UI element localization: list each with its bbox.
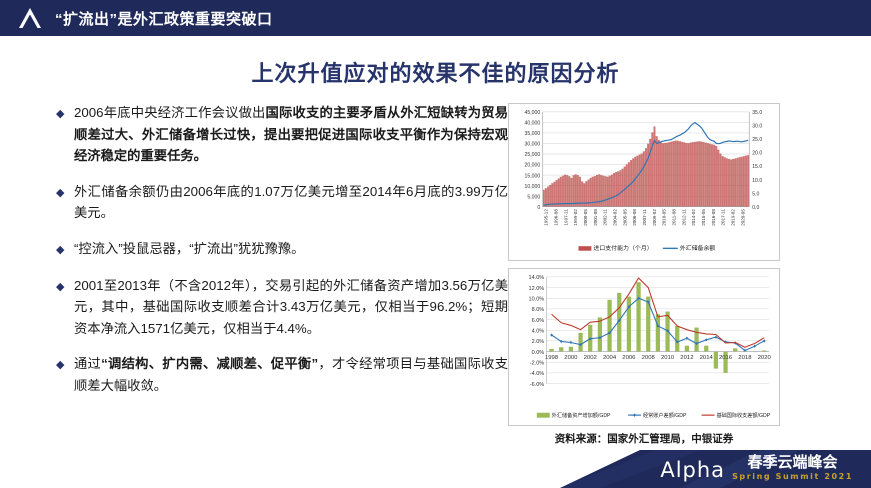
- svg-text:10.0: 10.0: [752, 178, 762, 184]
- bullet-list: ◆2006年底中央经济工作会议做出国际收支的主要矛盾从外汇短缺转为贸易顺差过大、…: [56, 102, 508, 410]
- svg-text:外汇储备资产增加额/GDP: 外汇储备资产增加额/GDP: [552, 411, 611, 419]
- svg-text:2015-05: 2015-05: [701, 209, 706, 226]
- svg-text:1996-08: 1996-08: [553, 209, 558, 226]
- svg-text:30,000: 30,000: [525, 142, 541, 148]
- brand-english-text: Spring Summit 2021: [732, 472, 853, 481]
- svg-text:1998: 1998: [545, 355, 559, 361]
- svg-text:2000-05: 2000-05: [583, 209, 588, 226]
- svg-text:10.0%: 10.0%: [529, 297, 545, 303]
- bullet-marker-icon: ◆: [56, 181, 74, 224]
- svg-text:2008: 2008: [642, 355, 656, 361]
- svg-text:2012: 2012: [680, 355, 693, 361]
- svg-text:2011-08: 2011-08: [671, 209, 676, 226]
- svg-text:35.0: 35.0: [752, 110, 762, 116]
- page-title: 上次升值应对的效果不佳的原因分析: [0, 56, 871, 88]
- svg-text:2014-02: 2014-02: [691, 209, 696, 226]
- svg-text:外汇储备余额: 外汇储备余额: [680, 244, 716, 252]
- svg-text:2014: 2014: [700, 355, 714, 361]
- svg-text:1997-11: 1997-11: [563, 209, 568, 226]
- svg-text:0: 0: [537, 205, 540, 211]
- bullet-marker-icon: ◆: [56, 102, 74, 167]
- svg-text:2019-02: 2019-02: [730, 209, 735, 226]
- svg-text:-6.0%: -6.0%: [530, 382, 545, 388]
- svg-text:2012-11: 2012-11: [681, 209, 686, 226]
- svg-text:1999-02: 1999-02: [573, 209, 578, 226]
- svg-text:基础国际收支差额/GDP: 基础国际收支差额/GDP: [716, 411, 770, 419]
- brand-alpha-text: Alpha: [660, 458, 725, 483]
- svg-text:10,000: 10,000: [525, 184, 541, 190]
- svg-text:2002-11: 2002-11: [603, 209, 608, 226]
- svg-text:4.0%: 4.0%: [532, 328, 545, 334]
- slide-header-bar: “扩流出”是外汇政策重要突破口: [0, 0, 871, 36]
- svg-text:2006-08: 2006-08: [632, 209, 637, 226]
- svg-text:2010: 2010: [661, 355, 675, 361]
- bullet-item: ◆2006年底中央经济工作会议做出国际收支的主要矛盾从外汇短缺转为贸易顺差过大、…: [56, 102, 508, 167]
- svg-text:2017-11: 2017-11: [721, 209, 726, 226]
- bullet-item: ◆通过“调结构、扩内需、减顺差、促平衡”，才令经常项目与基础国际收支顺差大幅收敛…: [56, 353, 508, 396]
- svg-text:2.0%: 2.0%: [532, 339, 545, 345]
- svg-text:20,000: 20,000: [525, 163, 541, 169]
- svg-text:2010-05: 2010-05: [662, 209, 667, 226]
- chart-fx-reserves-import-cover: 05,00010,00015,00020,00025,00030,00035,0…: [508, 103, 780, 261]
- svg-text:25,000: 25,000: [525, 152, 541, 158]
- svg-text:2004: 2004: [603, 355, 617, 361]
- svg-text:2016: 2016: [719, 355, 733, 361]
- source-note: 资料来源：国家外汇管理局，中银证券: [508, 431, 780, 446]
- bullet-marker-icon: ◆: [56, 275, 74, 340]
- svg-text:2000: 2000: [564, 355, 578, 361]
- bullet-item: ◆2001至2013年（不含2012年），交易引起的外汇储备资产增加3.56万亿…: [56, 275, 508, 340]
- svg-text:15.0: 15.0: [752, 164, 762, 170]
- slide-root: “扩流出”是外汇政策重要突破口 上次升值应对的效果不佳的原因分析 ◆2006年底…: [0, 0, 871, 488]
- bullet-marker-icon: ◆: [56, 238, 74, 261]
- svg-text:2020: 2020: [758, 355, 772, 361]
- svg-text:2005-05: 2005-05: [622, 209, 627, 226]
- svg-text:经常账户差额/GDP: 经常账户差额/GDP: [643, 411, 687, 419]
- svg-text:0.0%: 0.0%: [532, 350, 545, 356]
- slide-footer: Alpha 春季云端峰会 Spring Summit 2021: [0, 450, 871, 488]
- bullet-text: 通过“调结构、扩内需、减顺差、促平衡”，才令经常项目与基础国际收支顺差大幅收敛。: [74, 353, 508, 396]
- bullet-text: 2006年底中央经济工作会议做出国际收支的主要矛盾从外汇短缺转为贸易顺差过大、外…: [74, 102, 508, 167]
- bullet-item: ◆外汇储备余额仍由2006年底的1.07万亿美元增至2014年6月底的3.99万…: [56, 181, 508, 224]
- brand-chinese-text: 春季云端峰会: [748, 454, 838, 472]
- svg-text:12.0%: 12.0%: [529, 286, 545, 292]
- svg-text:20.0: 20.0: [752, 151, 762, 157]
- svg-text:1995-12: 1995-12: [544, 209, 549, 226]
- svg-text:14.0%: 14.0%: [529, 275, 545, 281]
- bullet-text: “控流入”投鼠忌器，“扩流出”犹犹豫豫。: [74, 238, 508, 261]
- svg-text:6.0%: 6.0%: [532, 318, 545, 324]
- footer-brand: Alpha 春季云端峰会 Spring Summit 2021: [660, 454, 853, 483]
- svg-text:2007-11: 2007-11: [642, 209, 647, 226]
- bullet-text: 外汇储备余额仍由2006年底的1.07万亿美元增至2014年6月底的3.99万亿…: [74, 181, 508, 224]
- svg-text:2009-02: 2009-02: [652, 209, 657, 226]
- alpha-triangle-icon: [17, 7, 43, 29]
- svg-text:2004-02: 2004-02: [612, 209, 617, 226]
- header-title: “扩流出”是外汇政策重要突破口: [55, 8, 273, 29]
- svg-text:2020-05: 2020-05: [740, 209, 745, 226]
- svg-text:15,000: 15,000: [525, 173, 541, 179]
- svg-text:40,000: 40,000: [525, 121, 541, 127]
- svg-text:2018: 2018: [738, 355, 752, 361]
- svg-text:2002: 2002: [584, 355, 597, 361]
- bullet-text: 2001至2013年（不含2012年），交易引起的外汇储备资产增加3.56万亿美…: [74, 275, 508, 340]
- svg-text:0.0: 0.0: [752, 205, 759, 211]
- bullet-item: ◆“控流入”投鼠忌器，“扩流出”犹犹豫豫。: [56, 238, 508, 261]
- svg-text:-4.0%: -4.0%: [530, 371, 545, 377]
- chart-bop-ratios-to-gdp: -6.0%-4.0%-2.0%0.0%2.0%4.0%6.0%8.0%10.0%…: [508, 268, 780, 426]
- svg-text:35,000: 35,000: [525, 131, 541, 137]
- svg-text:8.0%: 8.0%: [532, 307, 545, 313]
- bullet-marker-icon: ◆: [56, 353, 74, 396]
- svg-text:-2.0%: -2.0%: [530, 360, 545, 366]
- svg-text:30.0: 30.0: [752, 124, 762, 130]
- svg-text:5,000: 5,000: [527, 194, 540, 200]
- svg-text:2016-08: 2016-08: [711, 209, 716, 226]
- svg-text:25.0: 25.0: [752, 137, 762, 143]
- svg-text:进口支付能力（个月）: 进口支付能力（个月）: [593, 244, 652, 252]
- svg-text:45,000: 45,000: [525, 110, 541, 116]
- svg-text:2006: 2006: [622, 355, 636, 361]
- svg-text:5.0: 5.0: [752, 191, 759, 197]
- svg-text:2001-08: 2001-08: [593, 209, 598, 226]
